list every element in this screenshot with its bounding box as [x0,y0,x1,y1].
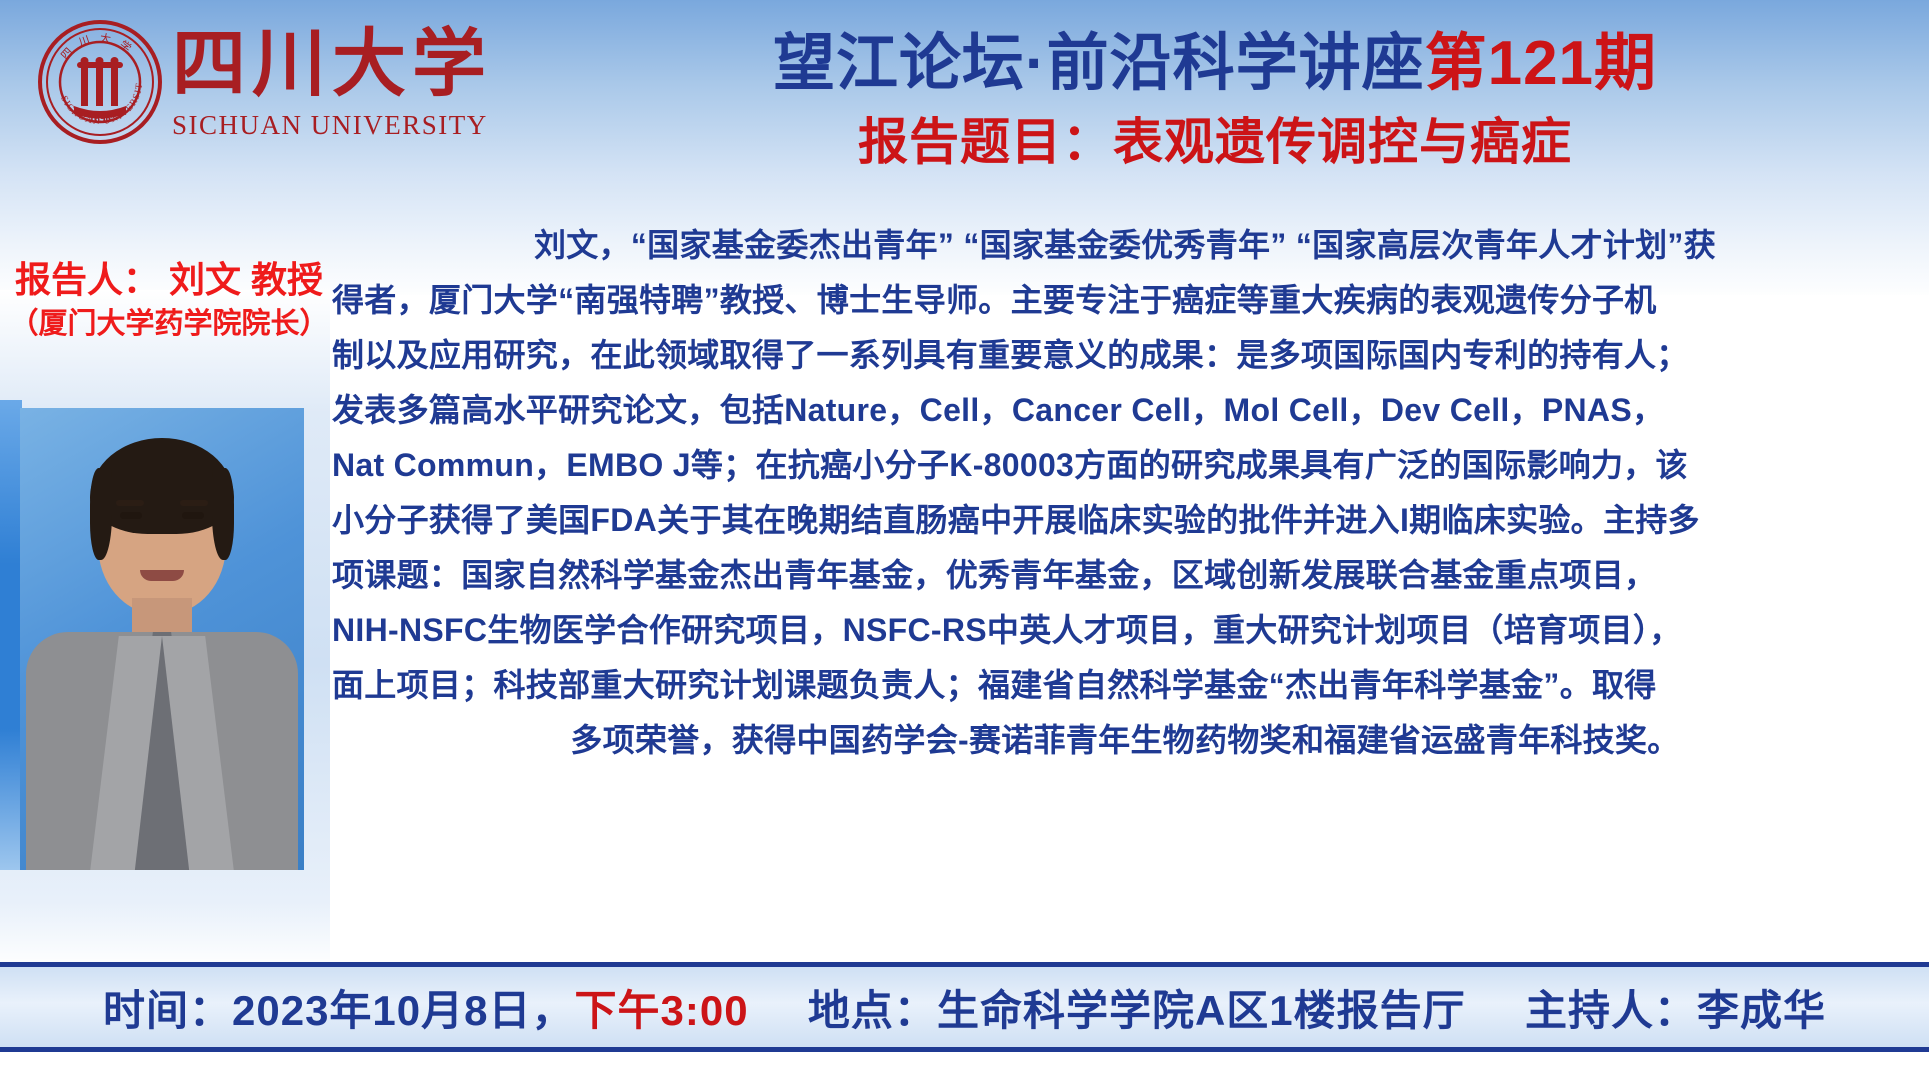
bio-line: 刘文，“国家基金委杰出青年” “国家基金委优秀青年” “国家高层次青年人才计划”… [332,218,1918,273]
bio-line: 得者，厦门大学“南强特聘”教授、博士生导师。主要专注于癌症等重大疾病的表观遗传分… [332,273,1918,328]
bio-line: 发表多篇高水平研究论文，包括Nature，Cell，Cancer Cell，Mo… [332,383,1918,438]
university-seal-icon: 1896 四 川 大 学 SICHUAN UNIVERSITY [36,18,164,146]
bio-line: NIH-NSFC生物医学合作研究项目，NSFC-RS中英人才项目，重大研究计划项… [332,603,1918,658]
place-label: 地点： [808,987,937,1034]
bio-line: 制以及应用研究，在此领域取得了一系列具有重要意义的成果：是多项国际国内专利的持有… [332,328,1918,383]
bio-line: 面上项目；科技部重大研究计划课题负责人；福建省自然科学基金“杰出青年科学基金”。… [332,658,1918,713]
time-label: 时间： [103,987,232,1034]
title-series: 望江论坛·前沿科学讲座 [773,29,1425,98]
event-details-text: 时间：2023年10月8日，下午3:00 地点：生命科学学院A区1楼报告厅 主持… [103,977,1826,1038]
portrait-brow-right [180,500,208,506]
university-wordmark: 四川大学 SICHUAN UNIVERSITY [172,24,482,154]
time-hour: 下午3:00 [575,987,749,1034]
host-value: 李成华 [1697,987,1826,1034]
footer-divider-bottom [0,1047,1929,1052]
portrait-eye-right [182,512,204,519]
speaker-biography: 刘文，“国家基金委杰出青年” “国家基金委优秀青年” “国家高层次青年人才计划”… [332,218,1918,768]
speaker-info: 报告人： 刘文 教授 （厦门大学药学院院长） [8,258,330,346]
portrait-brow-left [116,500,144,506]
speaker-name: 报告人： 刘文 教授 [8,258,330,302]
speaker-affiliation: （厦门大学药学院院长） [8,302,330,346]
bio-line: 多项荣誉，获得中国药学会-赛诺菲青年生物药物奖和福建省运盛青年科技奖。 [332,713,1918,768]
host-label: 主持人： [1525,987,1697,1034]
title-episode: 第121期 [1425,29,1657,98]
bio-line: 项课题：国家自然科学基金杰出青年基金，优秀青年基金，区域创新发展联合基金重点项目… [332,548,1918,603]
poster-title: 望江论坛·前沿科学讲座第121期 [520,26,1910,102]
wordmark-english: SICHUAN UNIVERSITY [172,110,482,141]
portrait-eye-left [120,512,142,519]
event-details-bar: 时间：2023年10月8日，下午3:00 地点：生命科学学院A区1楼报告厅 主持… [0,967,1929,1047]
photo-edge-strip [0,400,22,870]
place-value: 生命科学学院A区1楼报告厅 [937,987,1466,1034]
time-date: 2023年10月8日， [232,987,575,1034]
portrait-hair-right [212,468,234,560]
bio-line: 小分子获得了美国FDA关于其在晚期结直肠癌中开展临床实验的批件并进入I期临床实验… [332,493,1918,548]
portrait-mouth [140,570,184,581]
portrait-hair-left [90,468,112,560]
bio-line: Nat Commun，EMBO J等；在抗癌小分子K-80003方面的研究成果具… [332,438,1918,493]
lecture-poster: 1896 四 川 大 学 SICHUAN UNIVERSITY 四川大学 SIC… [0,0,1929,1080]
poster-subtitle: 报告题目：表观遗传调控与癌症 [520,112,1910,172]
speaker-portrait [20,408,304,870]
wordmark-chinese: 四川大学 [172,24,482,106]
